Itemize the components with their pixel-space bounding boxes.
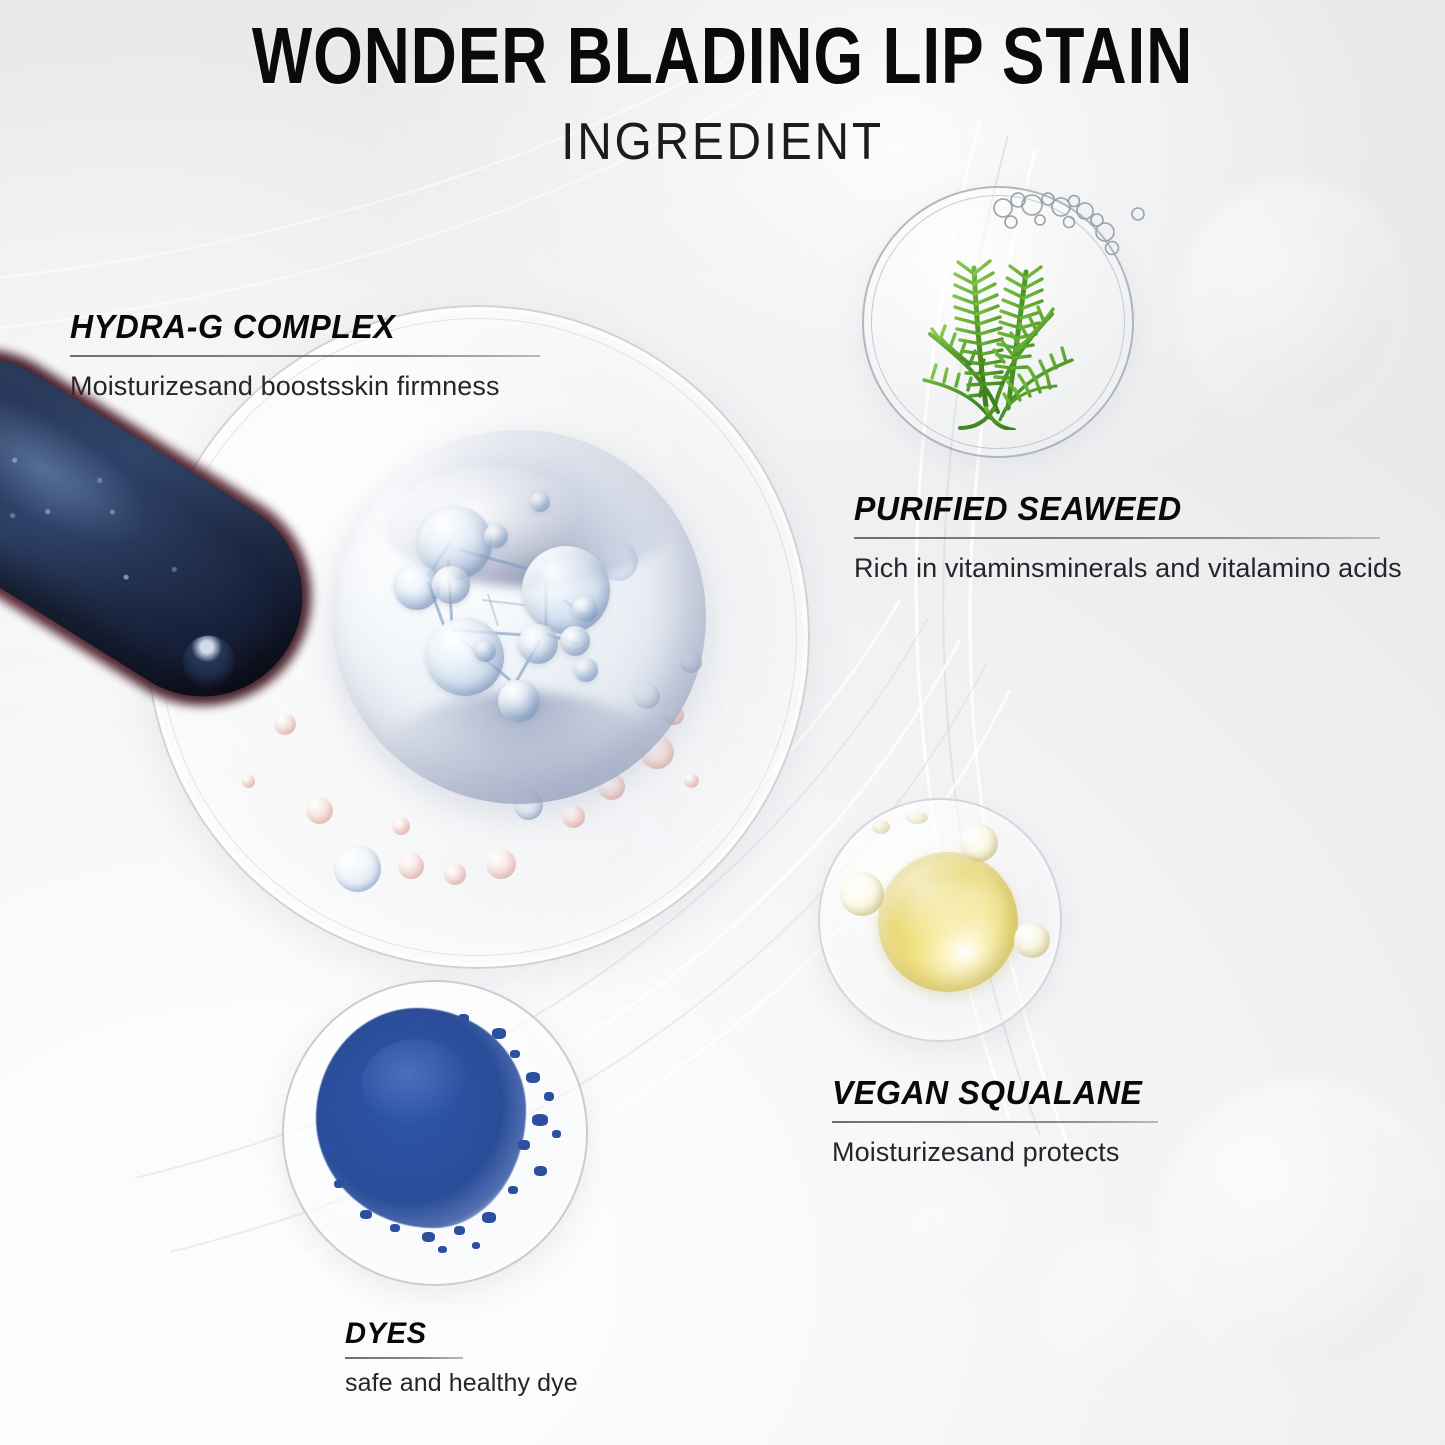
callout-rule: [854, 537, 1380, 539]
micro-bubble-icon: [392, 817, 410, 835]
micro-bubble-icon: [334, 845, 381, 892]
callout-hydra-g-complex: HYDRA-G COMPLEX Moisturizesand boostsski…: [70, 310, 540, 404]
pigment-grain: [454, 1226, 465, 1235]
ingredient-name: HYDRA-G COMPLEX: [70, 310, 526, 344]
satellite-bubble-icon: [906, 812, 928, 824]
pigment-grain: [374, 1038, 384, 1046]
ingredient-name: DYES: [345, 1318, 580, 1349]
molecule-node: [498, 680, 540, 722]
micro-bubble-icon: [562, 805, 585, 828]
pigment-grain: [438, 1246, 447, 1253]
satellite-bubble-icon: [840, 872, 884, 916]
ingredient-description: Moisturizesand boostsskin firmness: [70, 370, 540, 404]
infographic-canvas: WONDER BLADING LIP STAIN INGREDIENT: [0, 0, 1445, 1445]
ingredient-description: Rich in vitaminsminerals and vitalamino …: [854, 552, 1380, 586]
pigment-grain: [360, 1210, 372, 1219]
molecule-bonds: [332, 430, 706, 804]
molecule-node: [432, 566, 470, 604]
satellite-bubble-icon: [1014, 922, 1050, 958]
pigment-grain: [482, 1212, 496, 1223]
ingredient-name: PURIFIED SEAWEED: [854, 492, 1364, 526]
callout-dyes: DYES safe and healthy dye: [345, 1318, 587, 1399]
satellite-bubble-icon: [960, 824, 998, 862]
pigment-grain: [544, 1092, 554, 1101]
micro-bubble-icon: [274, 713, 296, 735]
molecule-node: [522, 546, 610, 634]
pigment-grain: [422, 1232, 435, 1242]
oil-highlight: [886, 860, 1010, 984]
pigment-grain: [518, 1140, 530, 1150]
pigment-grain: [334, 1180, 344, 1188]
micro-bubble-icon: [398, 853, 424, 879]
background-bubble-ghost: [900, 1180, 1020, 1300]
molecule-node: [574, 658, 598, 682]
molecule-node: [572, 596, 598, 622]
molecule-node: [518, 624, 558, 664]
golden-oil-sphere: [878, 852, 1018, 992]
background-bubble-ghost: [1180, 180, 1410, 430]
seaweed-rim-bubbles-icon: [985, 186, 1165, 326]
pigment-grain: [328, 1108, 337, 1115]
pigment-grain: [390, 1224, 400, 1232]
ingredient-name: VEGAN SQUALANE: [832, 1076, 1148, 1110]
ingredient-description: safe and healthy dye: [345, 1368, 587, 1399]
background-bubble-ghost: [1040, 1235, 1190, 1390]
pigment-grain: [344, 1072, 356, 1081]
micro-bubble-icon: [242, 775, 255, 788]
hydra-g-droplet: [332, 430, 706, 804]
callout-rule: [345, 1357, 463, 1359]
callout-purified-seaweed: PURIFIED SEAWEED Rich in vitaminsmineral…: [854, 492, 1380, 586]
pigment-grain: [508, 1186, 518, 1194]
micro-bubble-icon: [486, 849, 516, 879]
satellite-bubble-icon: [872, 820, 890, 834]
callout-vegan-squalane: VEGAN SQUALANE Moisturizesand protects: [832, 1076, 1158, 1170]
pigment-grain: [534, 1166, 547, 1176]
pigment-grain: [526, 1072, 540, 1083]
pigment-grain: [552, 1130, 561, 1138]
molecule-node: [530, 492, 550, 512]
page-subtitle: INGREDIENT: [58, 116, 1387, 168]
pigment-grain: [510, 1050, 520, 1058]
powder-highlight: [362, 1039, 471, 1127]
pigment-grain: [472, 1242, 480, 1249]
page-title: WONDER BLADING LIP STAIN: [145, 16, 1301, 96]
pigment-grain: [492, 1028, 506, 1039]
callout-rule: [70, 355, 540, 357]
pigment-grain: [322, 1144, 333, 1153]
squalane-bubble: [818, 798, 1062, 1042]
molecule-node: [560, 626, 590, 656]
micro-bubble-icon: [444, 863, 466, 885]
molecule-node: [474, 640, 496, 662]
pigment-grain: [458, 1014, 469, 1023]
ingredient-description: Moisturizesand protects: [832, 1136, 1158, 1170]
pigment-grain: [532, 1114, 548, 1126]
background-bubble-ghost: [1160, 1080, 1445, 1380]
molecule-node: [484, 524, 508, 548]
callout-rule: [832, 1121, 1158, 1123]
pigment-grain: [414, 1020, 427, 1030]
blue-pigment-powder: [316, 1008, 526, 1228]
micro-bubble-icon: [306, 797, 333, 824]
dye-petri-dish: [282, 980, 588, 1286]
